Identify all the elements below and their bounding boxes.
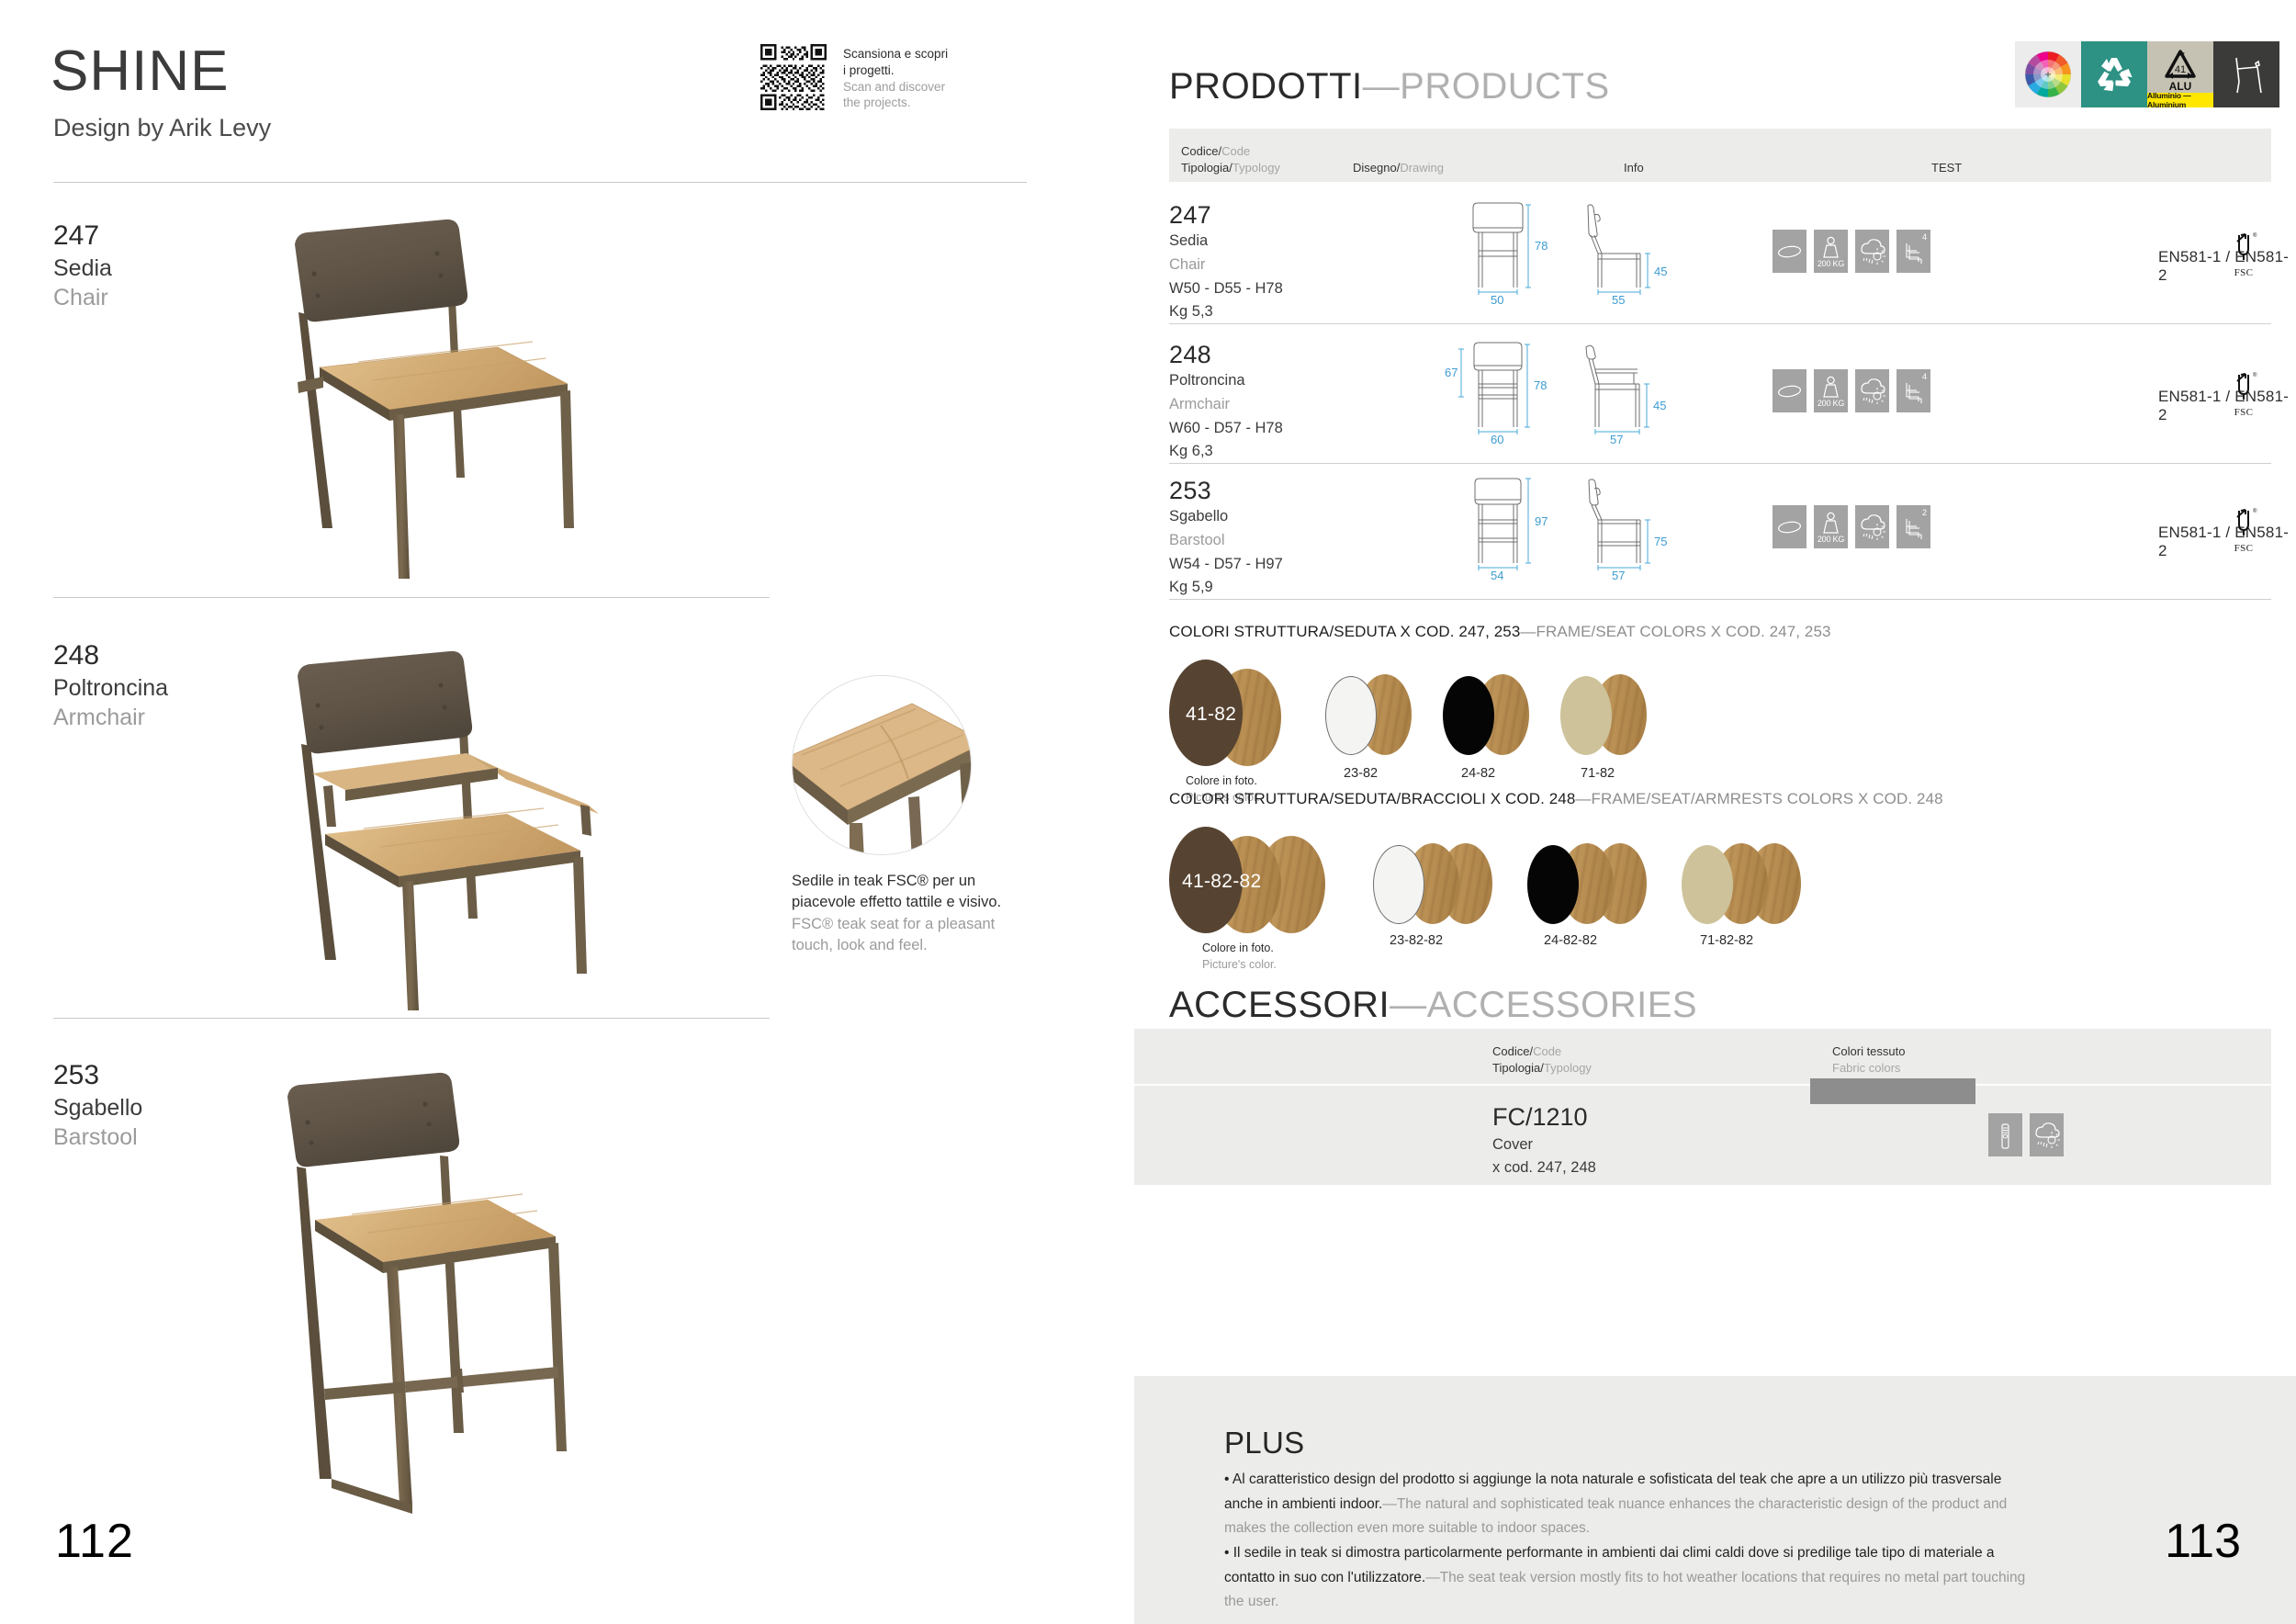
teak-detail-caption: Sedile in teak FSC® per un piacevole eff… [792,871,1049,957]
load-capacity-icon: 200 KG [1814,505,1848,548]
svg-text:41: 41 [2175,64,2186,75]
acc-header-fabric-colors: Fabric colors [1832,1060,1905,1077]
colors-248-title: COLORI STRUTTURA/SEDUTA/BRACCIOLI X COD.… [1169,790,1943,808]
svg-text:57: 57 [1610,433,1623,445]
product-name-en: Chair [53,283,112,313]
header-test: TEST [1931,129,1962,176]
row-drawing-253: 97 54 75 57 [1460,476,1690,581]
acc-header-colori-tessuto: Colori tessuto [1832,1043,1905,1060]
swatch-main-41-82[interactable]: 41-82 [1169,660,1316,761]
frame-oval [1373,845,1424,924]
color-wheel-badge [2015,41,2081,107]
caption-it: Colore in foto. [1202,941,1277,957]
seat-shape-icon [1773,230,1806,273]
acc-row-text: FC/1210 Cover x cod. 247, 248 [1492,1102,1596,1179]
acc-pictos [1988,1113,2064,1156]
seat-shape-icon [1773,505,1806,548]
fsc-certification-253: ® FSC [2225,505,2262,554]
fsc-certification-247: ® FSC [2225,230,2262,278]
acc-for-codes: x cod. 247, 248 [1492,1156,1596,1179]
left-product-253: 253 Sgabello Barstool [53,1058,142,1153]
teak-caption-it-2: piacevole effetto tattile e visivo. [792,892,1049,913]
svg-text:®: ® [2253,372,2257,378]
row-drawing-247: 78 50 45 55 [1460,200,1690,306]
chair-photo-247 [257,211,625,579]
qr-line-4: the projects. [843,95,948,111]
product-code: 247 [53,219,112,254]
designer-credit: Design by Arik Levy [53,114,271,142]
page-number-right: 113 [2165,1514,2241,1569]
header-code-typology: Codice/Code Tipologia/Typology [1169,129,1353,177]
weather-resistant-icon [1855,230,1889,273]
qr-line-2: i progetti. [843,62,948,79]
row-pictos-248: 200 KG 4 [1773,369,1930,412]
header-disegno: Disegno/ [1353,161,1400,175]
accessories-section-title: ACCESSORI—ACCESSORIES [1169,985,1697,1026]
divider-top [53,182,1027,183]
svg-text:®: ® [2253,508,2257,514]
catalog-spread: SHINE Design by Arik Levy [0,0,2296,1624]
plus-body: • Al caratteristico design del prodotto … [1224,1468,2028,1615]
stack-count-icon: 4 [1896,369,1930,412]
weather-resistant-icon [2030,1113,2064,1156]
header-info: Info [1624,129,1931,176]
fsc-label: FSC [2225,543,2262,554]
armchair-photo-248 [257,643,643,1010]
svg-text:78: 78 [1535,239,1548,253]
colors248-title-dash: — [1575,790,1591,807]
left-product-247: 247 Sedia Chair [53,219,112,313]
row-separator-2 [1169,463,2271,464]
stack-count-label: 4 [1922,372,1927,381]
colors-title-it: COLORI STRUTTURA/SEDUTA X COD. 247, 253 [1169,623,1520,640]
load-capacity-label: 200 KG [1814,399,1848,408]
svg-text:45: 45 [1653,399,1666,412]
svg-text:78: 78 [1534,378,1547,392]
divider-248-253 [53,1018,770,1019]
product-code: 253 [53,1058,142,1093]
swatch-label-24-82: 24-82 [1461,766,1495,781]
swatch-main-label: 41-82-82 [1182,871,1261,893]
qr-line-1: Scansiona e scopri [843,46,948,62]
row-separator-1 [1169,323,2271,324]
material-badges: 41 ALU Alluminio — Aluminium [2015,41,2279,107]
svg-text:54: 54 [1491,569,1503,581]
barstool-photo-253 [243,1066,611,1525]
accessories-table-header: Codice/Code Tipologia/Typology Colori te… [1134,1029,2271,1084]
stack-count-icon: 4 [1896,230,1930,273]
left-page: SHINE Design by Arik Levy [0,0,1143,1624]
frame-oval [1527,845,1579,924]
caption-en: Picture's color. [1202,957,1277,974]
fabric-color-swatch[interactable] [1810,1078,1975,1104]
products-title-en: PRODUCTS [1400,66,1609,107]
header-tipologia: Tipologia/ [1181,161,1232,175]
plus-title: PLUS [1224,1426,1304,1460]
products-section-title: PRODOTTI—PRODUCTS [1169,66,1610,107]
frame-oval [1682,845,1733,924]
qr-code-icon[interactable] [760,44,827,110]
svg-text:75: 75 [1654,535,1667,548]
colors248-title-it: COLORI STRUTTURA/SEDUTA/BRACCIOLI X COD.… [1169,790,1575,807]
header-code: Code [1221,144,1250,158]
svg-text:45: 45 [1654,265,1667,278]
page-number-left: 112 [55,1514,134,1569]
left-product-248: 248 Poltroncina Armchair [53,638,168,733]
colors-title-dash: — [1520,623,1536,640]
plus-b1-dash: — [1382,1496,1397,1512]
accessories-title-it: ACCESSORI [1169,985,1390,1025]
row-pictos-247: 200 KG 4 [1773,230,1930,273]
swatch-main-caption: Colore in foto. Picture's color. [1202,941,1277,974]
frame-oval [1560,676,1612,755]
stack-count-label: 2 [1922,508,1927,517]
seat-shape-icon [1773,369,1806,412]
aluminium-badge: 41 ALU Alluminio — Aluminium [2147,41,2213,107]
product-name-en: Barstool [53,1122,142,1153]
header-typology: Typology [1232,161,1280,175]
stackable-chair-badge [2213,41,2279,107]
product-name-it: Poltroncina [53,673,168,704]
colors248-title-en: FRAME/SEAT/ARMRESTS COLORS X COD. 248 [1592,790,1943,807]
svg-text:55: 55 [1612,293,1625,306]
stack-count-icon: 2 [1896,505,1930,548]
acc-header-typology: Typology [1544,1061,1592,1075]
swatch-label-71-82: 71-82 [1581,766,1615,781]
header-info-label: Info [1624,161,1644,175]
frame-oval [1325,676,1377,755]
svg-text:97: 97 [1535,514,1548,528]
accessories-title-en: ACCESSORIES [1427,985,1697,1025]
fsc-label: FSC [2225,407,2262,418]
swatch-label-23-82-82: 23-82-82 [1390,933,1443,948]
load-capacity-label: 200 KG [1814,259,1848,268]
acc-header-code-typology: Codice/Code Tipologia/Typology [1492,1029,1592,1077]
accessories-row: FC/1210 Cover x cod. 247, 248 [1134,1086,2271,1185]
teak-caption-en-2: touch, look and feel. [792,935,1049,956]
colors-title-en: FRAME/SEAT COLORS X COD. 247, 253 [1536,623,1831,640]
product-name-it: Sgabello [53,1093,142,1123]
recycle-badge [2081,41,2147,107]
right-page: 41 ALU Alluminio — Aluminium [1143,0,2296,1624]
swatch-label-71-82-82: 71-82-82 [1700,933,1753,948]
swatch-label-23-82: 23-82 [1344,766,1378,781]
svg-text:57: 57 [1612,569,1625,581]
swatch-label-24-82-82: 24-82-82 [1544,933,1597,948]
products-title-it: PRODOTTI [1169,66,1363,107]
swatch-main-41-82-82[interactable]: 41-82-82 [1169,827,1362,933]
acc-header-fabric: Colori tessuto Fabric colors [1832,1029,1905,1077]
qr-caption: Scansiona e scopri i progetti. Scan and … [843,44,948,111]
products-title-dash: — [1363,66,1401,107]
row-pictos-253: 200 KG 2 [1773,505,1930,548]
row-drawing-248: 67 78 60 [1435,340,1693,445]
header-drawing: Drawing [1400,161,1444,175]
product-name-en: Armchair [53,703,168,733]
fsc-certification-248: ® FSC [2225,369,2262,418]
row-separator-3 [1169,599,2271,600]
colors-247-253-title: COLORI STRUTTURA/SEDUTA X COD. 247, 253—… [1169,623,1831,641]
acc-header-code: Code [1533,1044,1561,1058]
header-codice: Codice/ [1181,144,1221,158]
qr-line-3: Scan and discover [843,79,948,96]
load-capacity-label: 200 KG [1814,535,1848,544]
acc-header-tipologia: Tipologia/ [1492,1061,1544,1075]
plus-b2-dash: — [1425,1570,1440,1585]
load-capacity-icon: 200 KG [1814,369,1848,412]
product-name-it: Sedia [53,254,112,284]
weather-resistant-icon [1855,505,1889,548]
products-table-header: Codice/Code Tipologia/Typology Disegno/D… [1169,129,2271,182]
acc-header-codice: Codice/ [1492,1044,1533,1058]
load-capacity-icon: 200 KG [1814,230,1848,273]
product-code: 248 [53,638,168,673]
acc-code: FC/1210 [1492,1102,1596,1133]
acc-type: Cover [1492,1133,1596,1156]
teak-caption-it-1: Sedile in teak FSC® per un [792,871,1049,892]
svg-text:50: 50 [1491,293,1503,306]
svg-text:®: ® [2253,232,2257,239]
frame-oval [1443,676,1494,755]
teak-caption-en-1: FSC® teak seat for a pleasant [792,914,1049,935]
svg-text:67: 67 [1445,366,1458,379]
fsc-label: FSC [2225,267,2262,278]
svg-text:60: 60 [1491,433,1503,445]
swatch-main-label: 41-82 [1186,704,1236,726]
fabric-roll-icon [1988,1113,2022,1156]
accessories-title-dash: — [1390,985,1427,1025]
header-test-label: TEST [1931,161,1962,175]
aluminium-badge-label: Alluminio — Aluminium [2147,93,2213,107]
qr-block[interactable]: Scansiona e scopri i progetti. Scan and … [760,44,948,111]
header-drawing: Disegno/Drawing [1353,129,1624,176]
collection-title: SHINE [51,39,229,104]
weather-resistant-icon [1855,369,1889,412]
teak-detail-photo [792,675,972,855]
divider-247-248 [53,597,770,598]
stack-count-label: 4 [1922,232,1927,242]
caption-it: Colore in foto. [1186,773,1260,790]
